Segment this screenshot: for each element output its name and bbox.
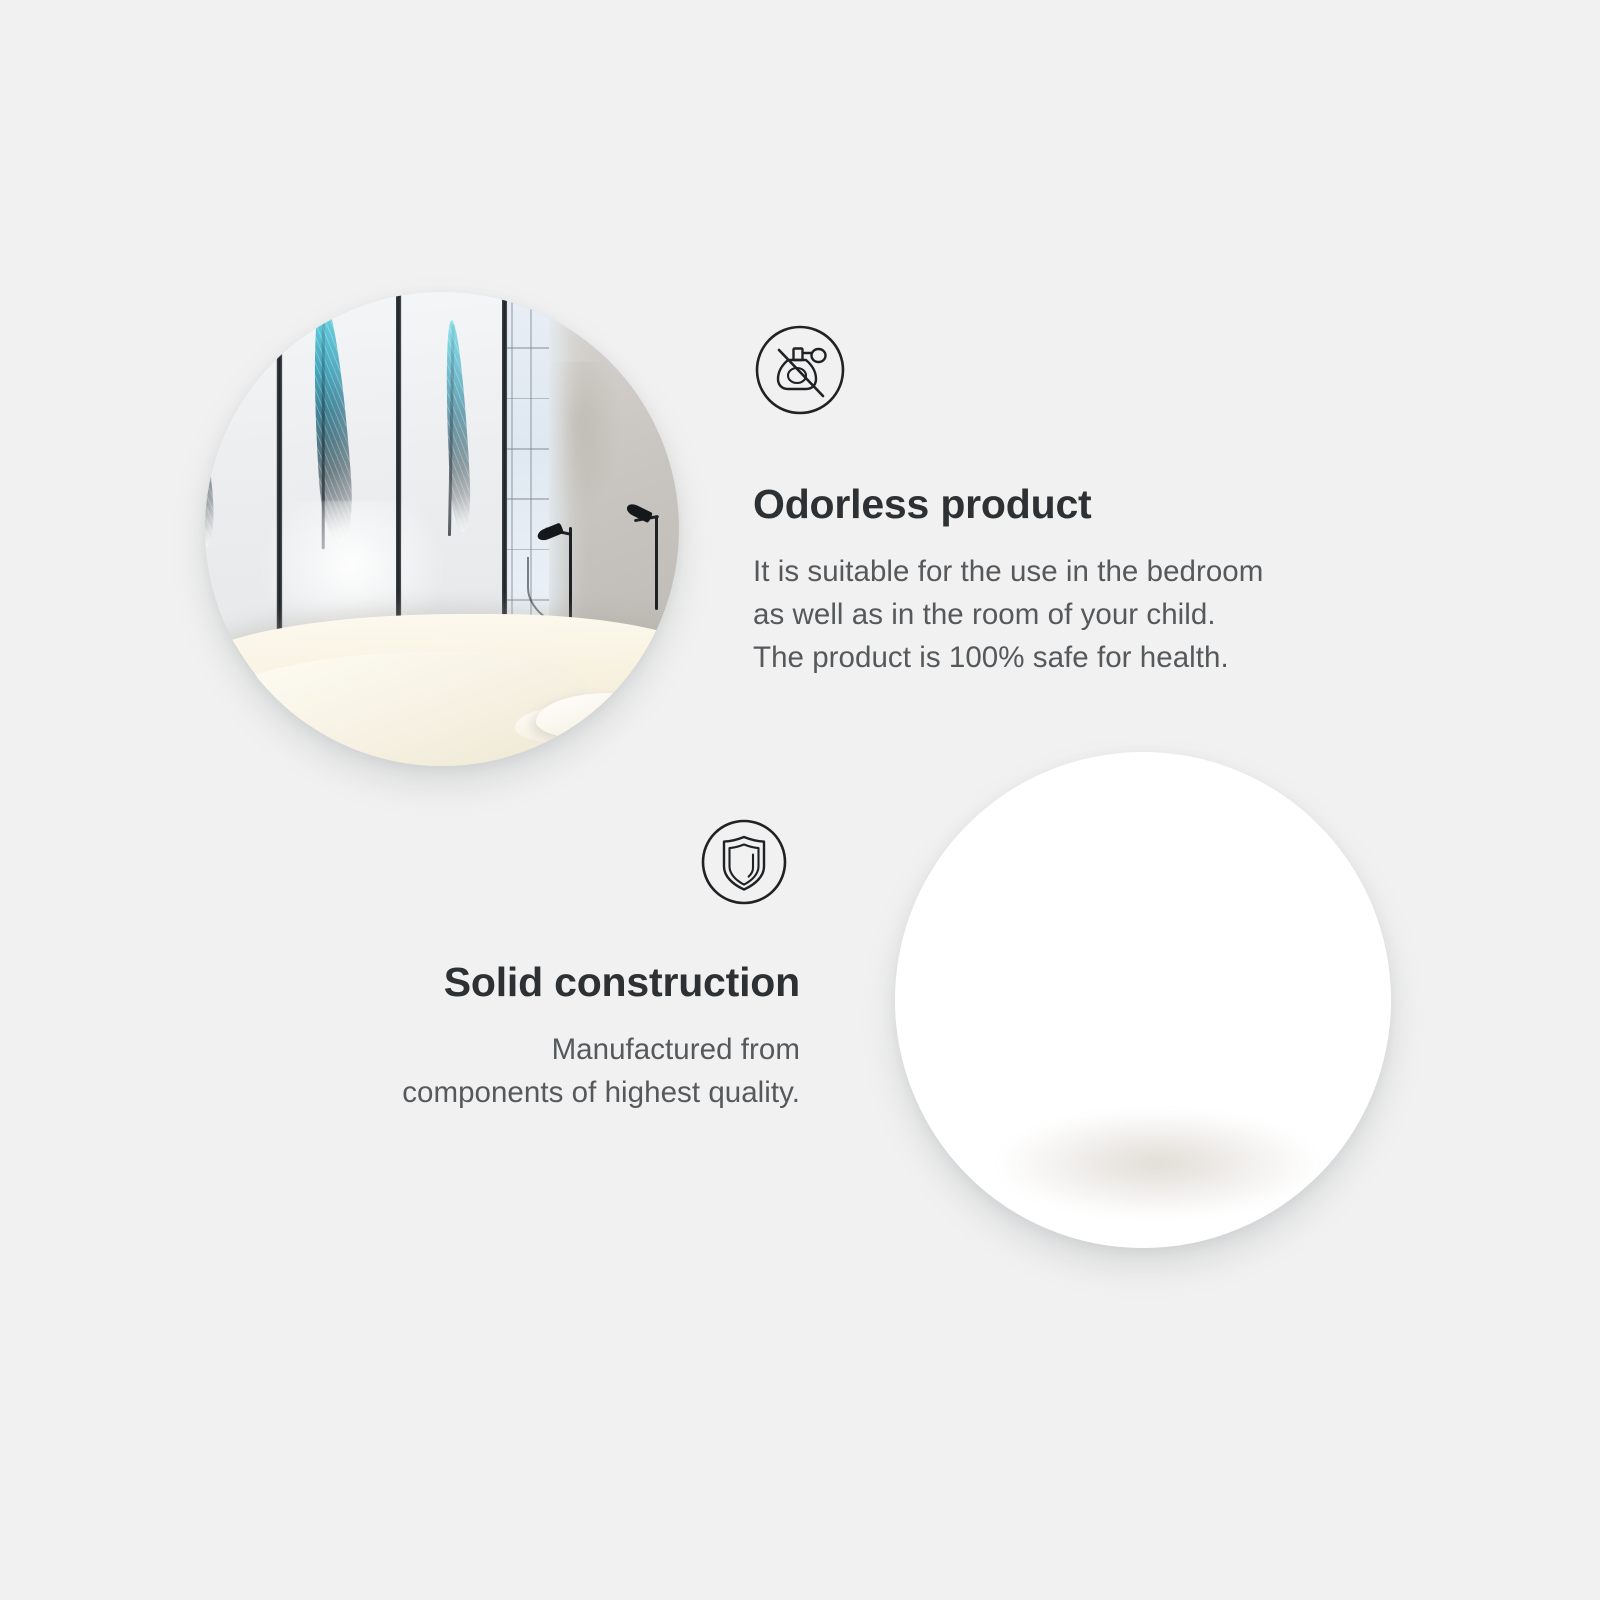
bedroom-scene	[205, 292, 679, 766]
duvet	[205, 652, 590, 766]
feature-description: It is suitable for the use in the bedroo…	[753, 550, 1453, 679]
bedroom-feather-canvas-photo	[205, 292, 679, 766]
panel-divider	[502, 292, 507, 662]
wooden-blocks-photo	[895, 752, 1391, 1248]
feature-text-solid: Solid construction Manufactured from com…	[160, 960, 800, 1114]
feature-text-odorless: Odorless product It is suitable for the …	[753, 482, 1453, 679]
feather-graphic	[205, 312, 218, 549]
pillow	[536, 693, 679, 741]
wood-shadow	[994, 1109, 1321, 1218]
panel-divider	[396, 292, 401, 662]
no-odor-icon	[752, 322, 848, 418]
feature-title: Solid construction	[160, 960, 800, 1006]
feature-title: Odorless product	[753, 482, 1453, 528]
shield-icon	[698, 816, 790, 908]
bed	[205, 614, 679, 766]
feature-description: Manufactured from components of highest …	[160, 1028, 800, 1114]
wood-blocks-scene	[895, 752, 1391, 1248]
panel-divider	[277, 292, 282, 662]
product-feature-infographic: Odorless product It is suitable for the …	[0, 0, 1600, 1600]
